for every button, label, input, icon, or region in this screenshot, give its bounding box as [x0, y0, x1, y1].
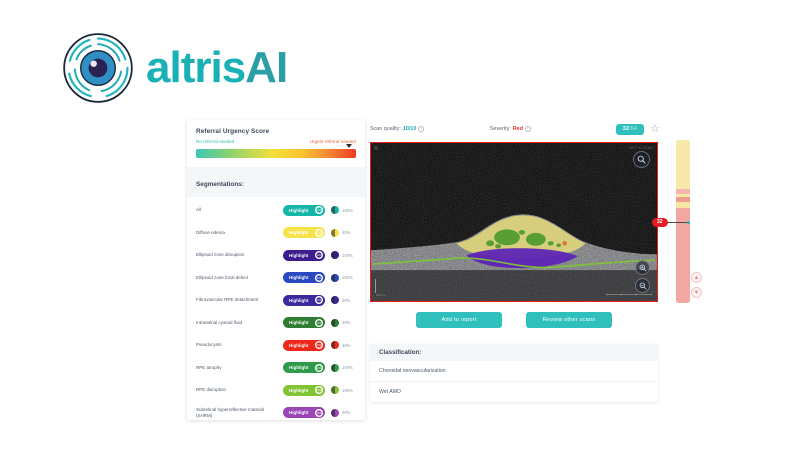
highlight-label: Highlight	[289, 275, 309, 280]
segmentation-row: Diffuse edemaHighlight40%	[187, 222, 365, 245]
urgency-marker	[346, 144, 352, 148]
slice-total: /64	[629, 126, 637, 132]
segmentation-label: RPE disruption	[196, 387, 283, 393]
classification-item: Choroidal neovascularization	[370, 361, 658, 382]
opacity-icon[interactable]	[331, 364, 339, 372]
eye-icon[interactable]	[315, 251, 323, 259]
segmentation-list: AllHighlight100%Diffuse edemaHighlight40…	[187, 197, 365, 420]
brand-wordmark: altrisAI	[146, 46, 287, 90]
oct-scan-image	[371, 143, 657, 302]
highlight-toggle-button[interactable]: Highlight	[283, 340, 325, 351]
opacity-control[interactable]: 100%	[331, 364, 356, 372]
opacity-icon[interactable]	[331, 319, 339, 327]
opacity-value: 100%	[342, 365, 356, 370]
opacity-value: 100%	[342, 388, 356, 393]
highlight-toggle-button[interactable]: Highlight	[283, 250, 325, 261]
segmentation-row: Ellipsoid zone disruptionHighlight100%	[187, 244, 365, 267]
zoom-out-icon[interactable]	[635, 278, 650, 293]
zoom-in-icon[interactable]	[635, 260, 650, 275]
segmentation-row: PseudocystsHighlight40%	[187, 334, 365, 357]
highlight-label: Highlight	[289, 388, 309, 393]
segmentation-row: Fibrovascular RPE detachmentHighlight40%	[187, 289, 365, 312]
severity-info-icon[interactable]: i	[525, 126, 531, 132]
urgency-low-label: No referral needed	[196, 139, 234, 144]
seg-pseudocysts	[562, 241, 566, 245]
highlight-label: Highlight	[289, 253, 309, 258]
urgency-gradient-bar	[196, 149, 356, 158]
classification-header: Classification:	[370, 344, 658, 361]
add-to-report-button[interactable]: Add to report	[416, 312, 502, 328]
segmentation-row: AllHighlight100%	[187, 199, 365, 222]
highlight-toggle-button[interactable]: Highlight	[283, 205, 325, 216]
opacity-icon[interactable]	[331, 341, 339, 349]
brand-suffix: AI	[245, 43, 287, 92]
eye-iris-icon	[62, 32, 134, 104]
segmentation-label: Ellipsoid zone focal defect	[196, 275, 283, 281]
highlight-label: Highlight	[289, 208, 309, 213]
opacity-icon[interactable]	[331, 409, 339, 417]
opacity-value: 40%	[342, 230, 356, 235]
highlight-toggle-button[interactable]: Highlight	[283, 295, 325, 306]
eye-icon[interactable]	[315, 206, 323, 214]
eye-icon[interactable]	[315, 296, 323, 304]
eye-icon[interactable]	[315, 409, 323, 417]
highlight-toggle-button[interactable]: Highlight	[283, 385, 325, 396]
marker-connector	[668, 222, 688, 223]
scan-quality: Scan quality: 10/10 i	[370, 126, 424, 132]
segmentation-label: Diffuse edema	[196, 230, 283, 236]
severity-segment	[676, 140, 690, 189]
scan-quality-label: Scan quality:	[370, 126, 401, 132]
classification-list: Choroidal neovascularizationWet AMD	[370, 361, 658, 402]
eye-icon[interactable]	[315, 364, 323, 372]
highlight-label: Highlight	[289, 230, 309, 235]
opacity-icon[interactable]	[331, 386, 339, 394]
highlight-label: Highlight	[289, 320, 309, 325]
magnifier-icon[interactable]	[633, 151, 650, 168]
scan-toolbar: Scan quality: 10/10 i Severity: Red i 32…	[370, 120, 660, 138]
classification-panel: Classification: Choroidal neovasculariza…	[370, 344, 658, 402]
chevron-up-icon[interactable]: ▲	[691, 272, 702, 283]
eye-icon[interactable]	[315, 319, 323, 327]
oct-horizontal-ruler	[606, 293, 652, 296]
opacity-control[interactable]: 40%	[331, 341, 356, 349]
segmentations-title: Segmentations:	[196, 181, 244, 188]
segmentation-row: RPE atrophyHighlight100%	[187, 357, 365, 380]
spacer	[187, 158, 365, 167]
highlight-toggle-button[interactable]: Highlight	[283, 317, 325, 328]
severity: Severity: Red i	[490, 126, 531, 132]
opacity-value: 40%	[342, 320, 356, 325]
eye-icon[interactable]	[315, 386, 323, 394]
opacity-icon[interactable]	[331, 251, 339, 259]
severity-value: Red	[513, 126, 523, 132]
segmentation-label: RPE atrophy	[196, 365, 283, 371]
brand-logo: altrisAI	[62, 32, 287, 104]
opacity-value: 100%	[342, 208, 356, 213]
segmentation-row: Intraretinal cystoid fluidHighlight40%	[187, 312, 365, 335]
segmentation-panel: Referral Urgency Score No referral neede…	[187, 120, 365, 420]
severity-label: Severity:	[490, 126, 511, 132]
referral-urgency-section: Referral Urgency Score No referral neede…	[187, 120, 365, 146]
opacity-control[interactable]: 100%	[331, 386, 356, 394]
opacity-control[interactable]: 40%	[331, 409, 356, 417]
slice-nav-buttons: ▲ ▼	[691, 272, 702, 298]
highlight-label: Highlight	[289, 365, 309, 370]
segmentation-label: Subretinal hyperreflective material (SHR…	[196, 407, 283, 418]
brand-name: altris	[146, 43, 245, 92]
slice-counter-badge[interactable]: 32/64	[616, 124, 645, 135]
oct-scan-viewer[interactable]: OCT B-SCAN 200 um	[370, 142, 658, 302]
segmentation-label: Intraretinal cystoid fluid	[196, 320, 283, 326]
classification-item: Wet AMD	[370, 382, 658, 402]
highlight-label: Highlight	[289, 410, 309, 415]
highlight-toggle-button[interactable]: Highlight	[283, 272, 325, 283]
app-root: altrisAI Referral Urgency Score No refer…	[0, 0, 800, 450]
opacity-value: 100%	[342, 253, 356, 258]
slice-position-marker[interactable]: 32	[652, 218, 690, 227]
opacity-control[interactable]: 40%	[331, 296, 356, 304]
opacity-icon[interactable]	[331, 206, 339, 214]
segmentations-header: Segmentations:	[187, 167, 365, 197]
opacity-value: 100%	[342, 275, 356, 280]
star-outline-icon[interactable]: ☆	[650, 124, 660, 135]
eye-icon[interactable]	[315, 341, 323, 349]
chevron-down-icon[interactable]: ▼	[691, 287, 702, 298]
referral-urgency-title: Referral Urgency Score	[196, 128, 356, 135]
marker-dot	[687, 221, 690, 224]
segmentation-row: RPE disruptionHighlight100%	[187, 379, 365, 402]
scan-quality-value: 10/10	[403, 126, 417, 132]
action-buttons: Add to report Review other scans	[370, 312, 658, 328]
highlight-toggle-button[interactable]: Highlight	[283, 362, 325, 373]
opacity-value: 40%	[342, 343, 356, 348]
segmentation-row: Ellipsoid zone focal defectHighlight100%	[187, 267, 365, 290]
opacity-control[interactable]: 100%	[331, 206, 356, 214]
segmentation-label: Ellipsoid zone disruption	[196, 252, 283, 258]
referral-urgency-slider[interactable]	[196, 149, 356, 158]
segmentation-row: Subretinal hyperreflective material (SHR…	[187, 402, 365, 421]
eye-icon[interactable]	[315, 274, 323, 282]
opacity-control[interactable]: 40%	[331, 319, 356, 327]
highlight-toggle-button[interactable]: Highlight	[283, 407, 325, 418]
oct-corner-marker	[374, 146, 378, 150]
opacity-control[interactable]: 100%	[331, 274, 356, 282]
opacity-icon[interactable]	[331, 274, 339, 282]
segmentation-label: All	[196, 207, 283, 213]
eye-icon[interactable]	[315, 229, 323, 237]
highlight-toggle-button[interactable]: Highlight	[283, 227, 325, 238]
review-other-scans-button[interactable]: Review other scans	[526, 312, 612, 328]
highlight-label: Highlight	[289, 298, 309, 303]
opacity-value: 40%	[342, 298, 356, 303]
opacity-value: 40%	[342, 410, 356, 415]
highlight-label: Highlight	[289, 343, 309, 348]
opacity-icon[interactable]	[331, 296, 339, 304]
segmentation-label: Pseudocysts	[196, 342, 283, 348]
oct-scale-label: 200 um	[376, 293, 385, 297]
oct-vertical-scalebar	[375, 279, 376, 293]
slice-marker-value: 32	[652, 218, 668, 227]
oct-meta-label: OCT B-SCAN	[629, 146, 653, 150]
scan-quality-info-icon[interactable]: i	[418, 126, 424, 132]
segmentation-label: Fibrovascular RPE detachment	[196, 297, 283, 303]
referral-urgency-labels: No referral needed Urgent referral neede…	[196, 139, 356, 144]
opacity-icon[interactable]	[331, 229, 339, 237]
opacity-control[interactable]: 40%	[331, 229, 356, 237]
opacity-control[interactable]: 100%	[331, 251, 356, 259]
